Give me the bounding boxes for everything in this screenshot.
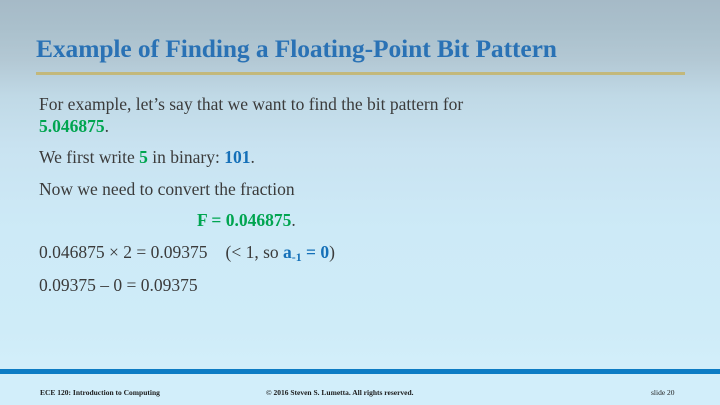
body-line-2-text-c: . [250,147,254,167]
bit-label-letter: a [283,242,292,262]
body-line-1-value: 5.046875 [39,116,105,136]
body-line-5-calculation: 0.046875 × 2 = 0.09375(< 1, so a-1 = 0) [39,242,689,266]
bit-label-subscript: -1 [292,250,302,264]
fraction-equation: F = 0.046875 [197,210,291,230]
body-line-2: We first write 5 in binary: 101. [39,147,689,169]
slide-canvas: Example of Finding a Floating-Point Bit … [0,0,720,405]
footer-slide-number: slide 20 [651,388,675,397]
calculation-note-open: (< 1, so [226,242,284,262]
fraction-equation-period: . [291,210,295,230]
body-line-2-text-b: in binary: [148,147,224,167]
calculation-note-close: ) [329,242,335,262]
footer-copyright: © 2016 Steven S. Lumetta. All rights res… [266,388,414,397]
bit-label: a-1 = 0 [283,242,329,262]
slide-body: For example, let’s say that we want to f… [39,94,689,307]
body-line-1-text-b: . [105,116,109,136]
title-divider [36,72,685,75]
body-line-4-equation: F = 0.046875. [39,210,689,232]
body-line-2-binary: 101 [224,147,250,167]
calculation-product: 0.046875 × 2 = 0.09375 [39,242,208,262]
bit-label-value: = 0 [302,242,329,262]
body-line-1: For example, let’s say that we want to f… [39,94,469,137]
body-line-6-subtraction: 0.09375 – 0 = 0.09375 [39,275,689,297]
body-line-2-decimal: 5 [139,147,148,167]
footer-course-label: ECE 120: Introduction to Computing [40,388,160,397]
slide-footer: ECE 120: Introduction to Computing © 201… [0,374,720,405]
body-line-3: Now we need to convert the fraction [39,179,689,201]
page-title: Example of Finding a Floating-Point Bit … [36,32,686,66]
body-line-1-text-a: For example, let’s say that we want to f… [39,94,463,114]
body-line-2-text-a: We first write [39,147,139,167]
